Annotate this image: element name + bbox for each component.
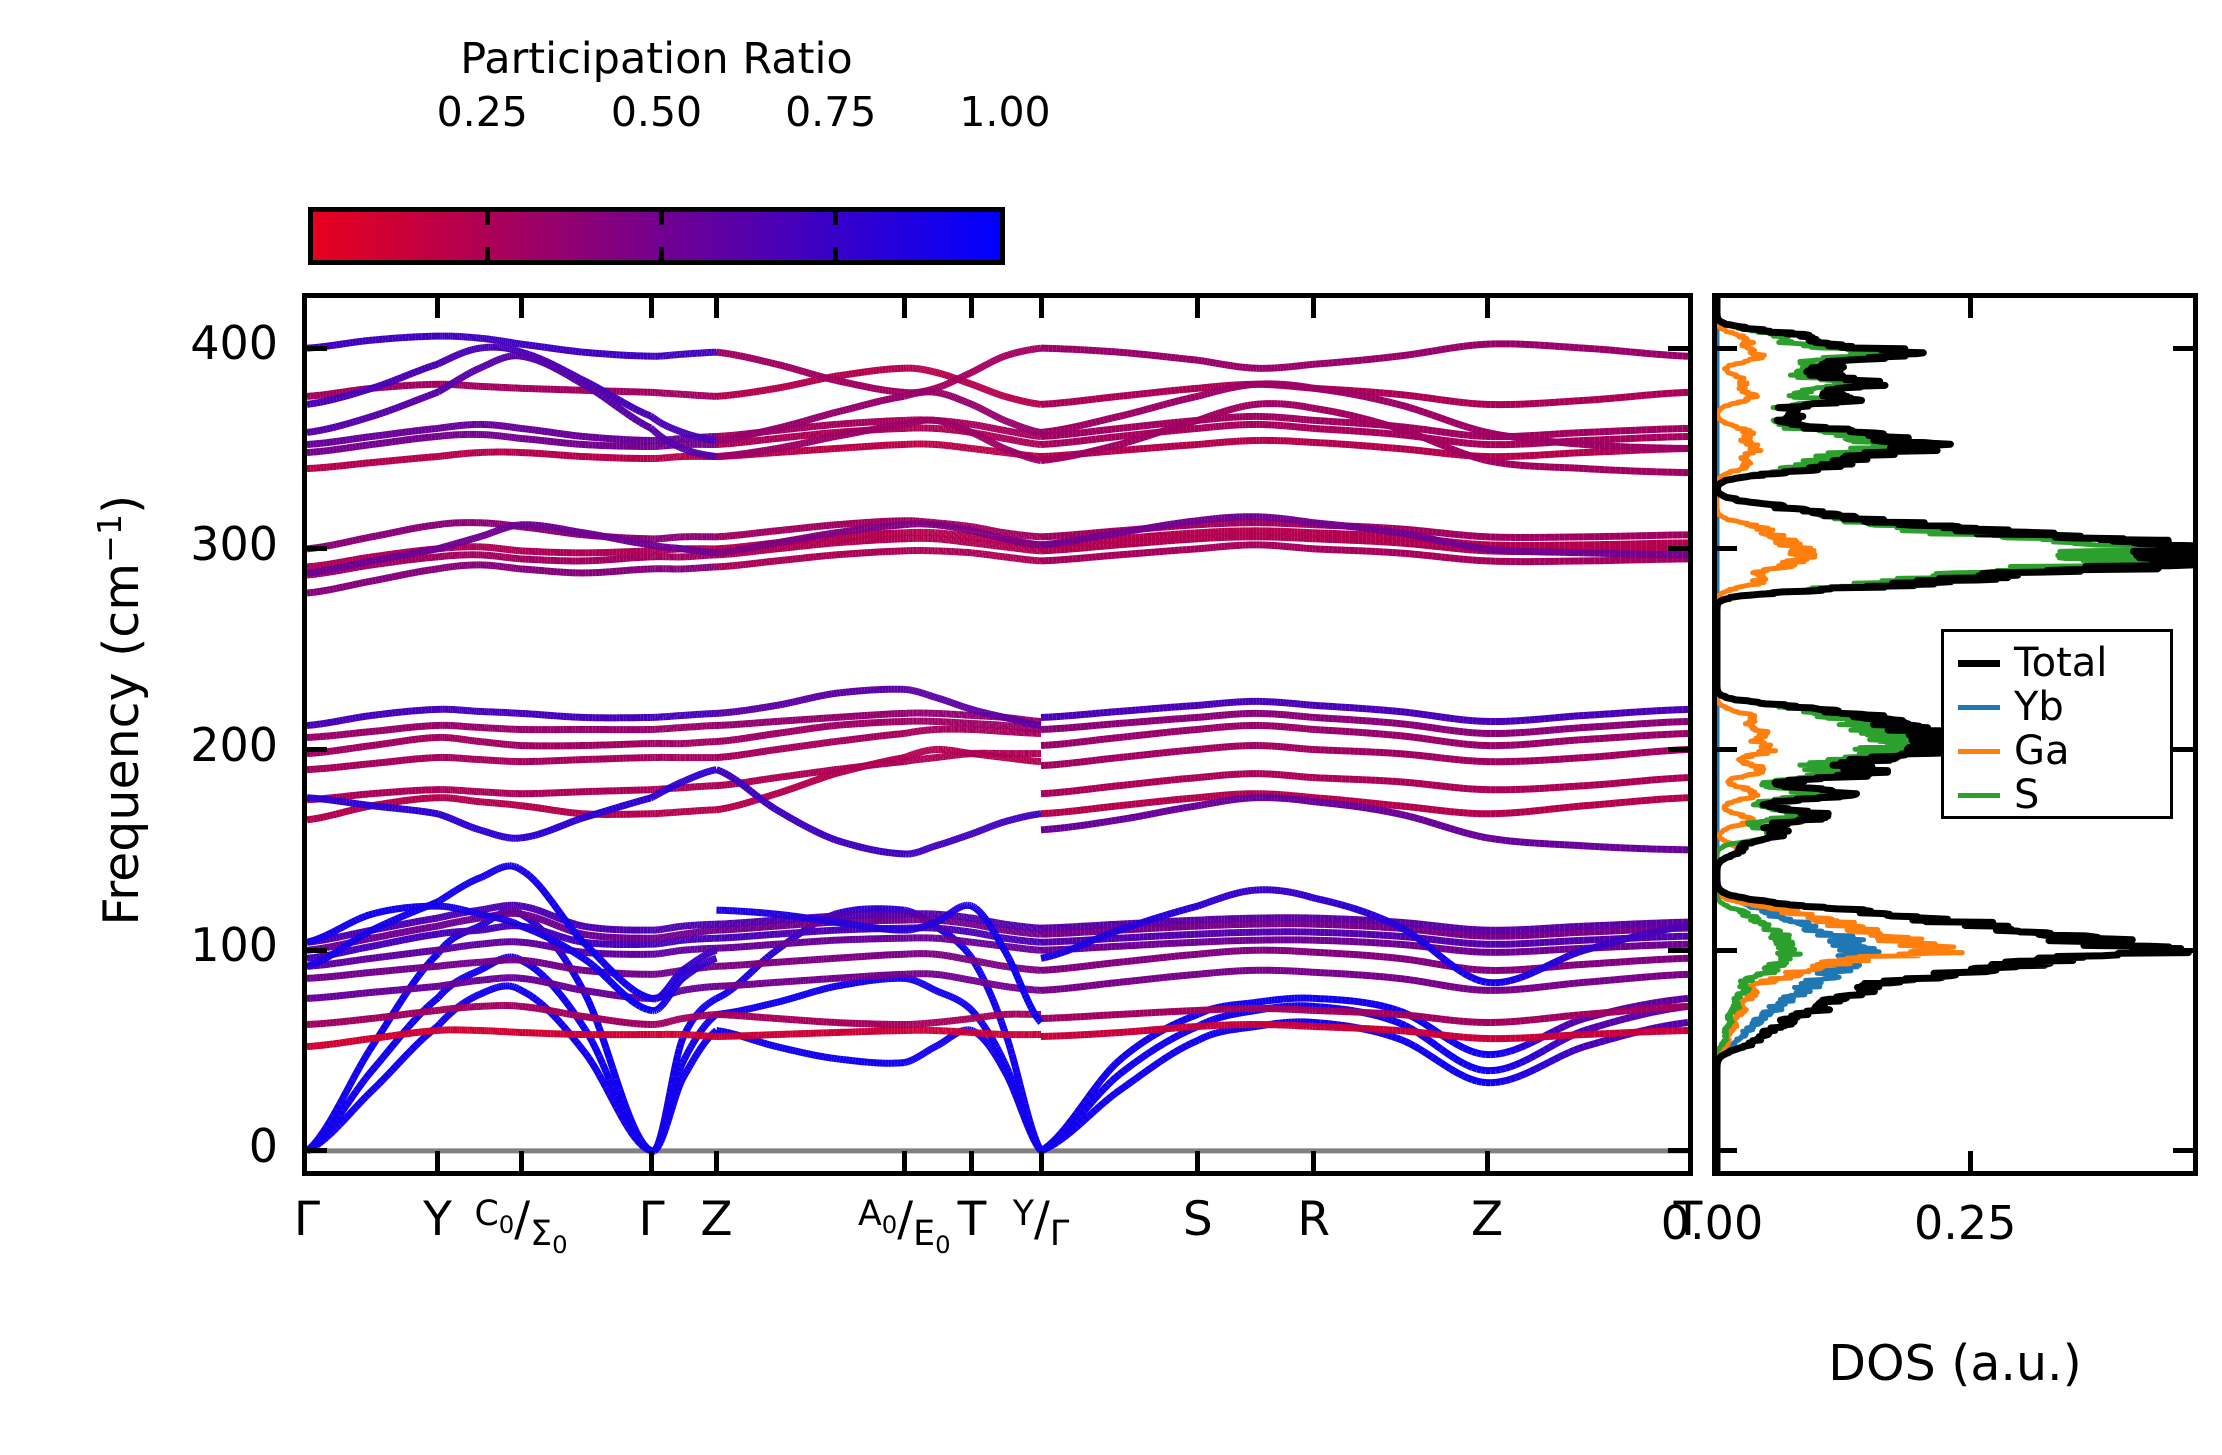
colorbar-tick-mark	[485, 247, 490, 260]
dos-y-tick	[1715, 948, 1737, 953]
phonon-band	[307, 725, 716, 737]
y-axis-tick	[305, 747, 327, 752]
legend-entry: Ga	[1958, 730, 2170, 772]
k-point-label: C0/Σ0	[475, 1196, 568, 1247]
k-point-tick	[519, 1151, 524, 1173]
k-point-tick	[1195, 1151, 1200, 1173]
phonon-band	[1041, 1022, 1688, 1151]
dos-y-tick	[1715, 1148, 1737, 1153]
y-axis-tick	[1668, 1148, 1690, 1153]
k-point-tick	[902, 1151, 907, 1173]
phonon-band	[1041, 950, 1688, 970]
colorbar-tick-label: 1.00	[959, 88, 1050, 136]
dos-x-tick-label: 0.00	[1661, 1196, 1763, 1250]
colorbar-tick-label: 0.75	[785, 88, 876, 136]
k-point-tick	[1485, 1151, 1490, 1173]
figure-root: Participation Ratio 0.250.500.751.00 Fre…	[0, 0, 2222, 1455]
y-tick-label: 400	[190, 316, 278, 370]
y-tick-label: 100	[190, 918, 278, 972]
k-point-label: R	[1297, 1196, 1330, 1243]
colorbar-gradient	[313, 212, 1000, 260]
phonon-band	[716, 938, 1041, 950]
phonon-band	[307, 709, 716, 725]
dos-x-tick	[1968, 1151, 1973, 1173]
k-point-tick	[714, 296, 719, 318]
k-point-label: Y/Γ	[1013, 1196, 1069, 1243]
k-point-tick	[1039, 296, 1044, 318]
legend-label: Yb	[2014, 687, 2064, 727]
colorbar-tick-mark	[485, 212, 490, 225]
k-point-label: Y	[423, 1196, 452, 1243]
k-point-label: Γ	[638, 1196, 664, 1243]
k-point-tick-labels: ΓYC0/Σ0ΓZA0/E0TY/ΓSRZT	[302, 1196, 1693, 1316]
k-point-label: A0/E0	[858, 1196, 951, 1247]
colorbar-tick-mark	[659, 247, 664, 260]
phonon-band	[1041, 774, 1688, 794]
y-axis-tick	[305, 346, 327, 351]
legend-entry: S	[1958, 774, 2170, 816]
legend-line-swatch	[1958, 793, 2000, 798]
y-tick-label: 200	[190, 718, 278, 772]
dos-x-tick	[1715, 296, 1720, 318]
colorbar-title: Participation Ratio	[308, 34, 1005, 84]
dos-y-tick	[1715, 546, 1737, 551]
y-axis-tick	[1668, 747, 1690, 752]
y-axis-tick	[305, 1148, 327, 1153]
colorbar-tick-mark	[833, 247, 838, 260]
y-tick-labels: 0100200300400	[100, 293, 278, 1176]
colorbar-tick-labels: 0.250.500.751.00	[308, 88, 1005, 136]
legend-line-swatch	[1958, 705, 2000, 710]
legend-line-swatch	[1958, 660, 2000, 667]
dos-y-tick	[1715, 346, 1737, 351]
legend-entry: Total	[1958, 642, 2170, 684]
k-point-tick	[1485, 296, 1490, 318]
phonon-band	[716, 954, 1041, 971]
legend-label: Total	[2014, 643, 2107, 683]
k-point-tick	[519, 296, 524, 318]
dos-x-axis-label: DOS (a.u.)	[1712, 1335, 2198, 1392]
k-point-tick	[435, 296, 440, 318]
k-point-tick	[649, 296, 654, 318]
k-point-tick	[969, 1151, 974, 1173]
k-point-tick	[1311, 1151, 1316, 1173]
phonon-band	[1041, 344, 1688, 368]
k-point-label: S	[1183, 1196, 1213, 1243]
phonon-band	[307, 757, 716, 769]
dos-x-tick	[1968, 296, 1973, 318]
phonon-band	[716, 1014, 1041, 1024]
k-point-tick	[902, 296, 907, 318]
k-point-tick	[969, 296, 974, 318]
dos-y-tick	[2173, 948, 2195, 953]
phonon-band	[1041, 746, 1688, 766]
band-structure-panel	[302, 293, 1693, 1176]
phonon-band	[307, 452, 716, 469]
k-point-tick	[649, 1151, 654, 1173]
dos-y-tick	[2173, 747, 2195, 752]
colorbar-tick-mark	[833, 212, 838, 225]
colorbar-tick-label: 0.25	[437, 88, 528, 136]
k-point-label: Z	[700, 1196, 732, 1243]
phonon-band	[307, 1030, 716, 1047]
phonon-band	[716, 1030, 1041, 1151]
k-point-label: Γ	[294, 1196, 320, 1243]
y-axis-tick	[1668, 346, 1690, 351]
y-axis-tick	[305, 948, 327, 953]
y-axis-tick	[1668, 948, 1690, 953]
y-axis-tick	[1668, 546, 1690, 551]
band-structure-plot	[307, 298, 1688, 1171]
y-axis-tick	[305, 546, 327, 551]
legend-entry: Yb	[1958, 686, 2170, 728]
legend-line-swatch	[1958, 749, 2000, 754]
dos-y-tick	[1715, 747, 1737, 752]
k-point-tick	[1311, 296, 1316, 318]
colorbar-tick-label: 0.50	[611, 88, 702, 136]
k-point-label: T	[958, 1196, 987, 1243]
dos-y-tick	[2173, 546, 2195, 551]
phonon-band	[1041, 970, 1688, 990]
legend-label: Ga	[2014, 731, 2070, 771]
colorbar	[308, 207, 1005, 265]
phonon-band	[716, 1030, 1041, 1036]
dos-x-tick	[1715, 1151, 1720, 1173]
dos-y-tick	[2173, 346, 2195, 351]
k-point-tick	[714, 1151, 719, 1173]
phonon-band	[307, 737, 716, 753]
dos-x-tick-label: 0.25	[1914, 1196, 2016, 1250]
y-tick-label: 0	[249, 1119, 278, 1173]
phonon-band	[307, 565, 716, 593]
y-tick-label: 300	[190, 517, 278, 571]
k-point-label: Z	[1471, 1196, 1503, 1243]
dos-y-tick	[2173, 1148, 2195, 1153]
dos-x-tick-labels: 0.000.25	[1712, 1196, 2198, 1266]
k-point-tick	[1039, 1151, 1044, 1173]
k-point-tick	[1195, 296, 1200, 318]
legend-label: S	[2014, 775, 2039, 815]
dos-legend: TotalYbGaS	[1941, 629, 2173, 819]
colorbar-tick-mark	[659, 212, 664, 225]
k-point-tick	[435, 1151, 440, 1173]
